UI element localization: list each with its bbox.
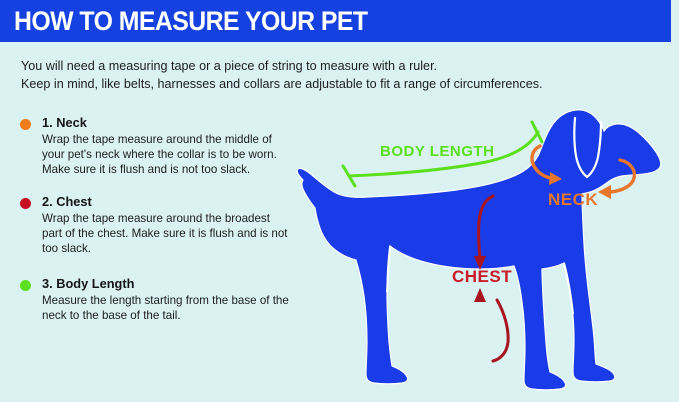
intro-line-2: Keep in mind, like belts, harnesses and … xyxy=(21,75,661,93)
step-item-body-length: 3. Body Length Measure the length starti… xyxy=(20,276,290,323)
step-body-chest: Wrap the tape measure around the broades… xyxy=(42,211,290,257)
intro-line-1: You will need a measuring tape or a piec… xyxy=(21,57,661,75)
step-item-neck: 1. Neck Wrap the tape measure around the… xyxy=(20,115,290,178)
chest-arrow-head-up xyxy=(474,288,486,302)
step-body-neck: Wrap the tape measure around the middle … xyxy=(42,132,290,178)
steps-list: 1. Neck Wrap the tape measure around the… xyxy=(20,115,290,340)
intro-paragraph: You will need a measuring tape or a piec… xyxy=(21,57,661,93)
step-item-chest: 2. Chest Wrap the tape measure around th… xyxy=(20,194,290,257)
page-title: HOW TO MEASURE YOUR PET xyxy=(14,6,368,36)
bullet-dot-icon-chest xyxy=(20,198,31,209)
dog-measurement-diagram: BODY LENGTH NECK CHEST xyxy=(286,100,679,402)
step-body-body-length: Measure the length starting from the bas… xyxy=(42,293,290,323)
neck-label: NECK xyxy=(548,190,598,209)
bullet-dot-icon-neck xyxy=(20,119,31,130)
body-length-label: BODY LENGTH xyxy=(380,143,494,160)
step-title-body-length: 3. Body Length xyxy=(42,276,290,292)
header-bar: HOW TO MEASURE YOUR PET xyxy=(0,0,671,42)
step-title-chest: 2. Chest xyxy=(42,194,290,210)
chest-arc-lower xyxy=(493,300,508,361)
chest-label: CHEST xyxy=(452,267,512,286)
infographic-page: HOW TO MEASURE YOUR PET You will need a … xyxy=(0,0,679,402)
bullet-dot-icon-body-length xyxy=(20,280,31,291)
step-title-neck: 1. Neck xyxy=(42,115,290,131)
